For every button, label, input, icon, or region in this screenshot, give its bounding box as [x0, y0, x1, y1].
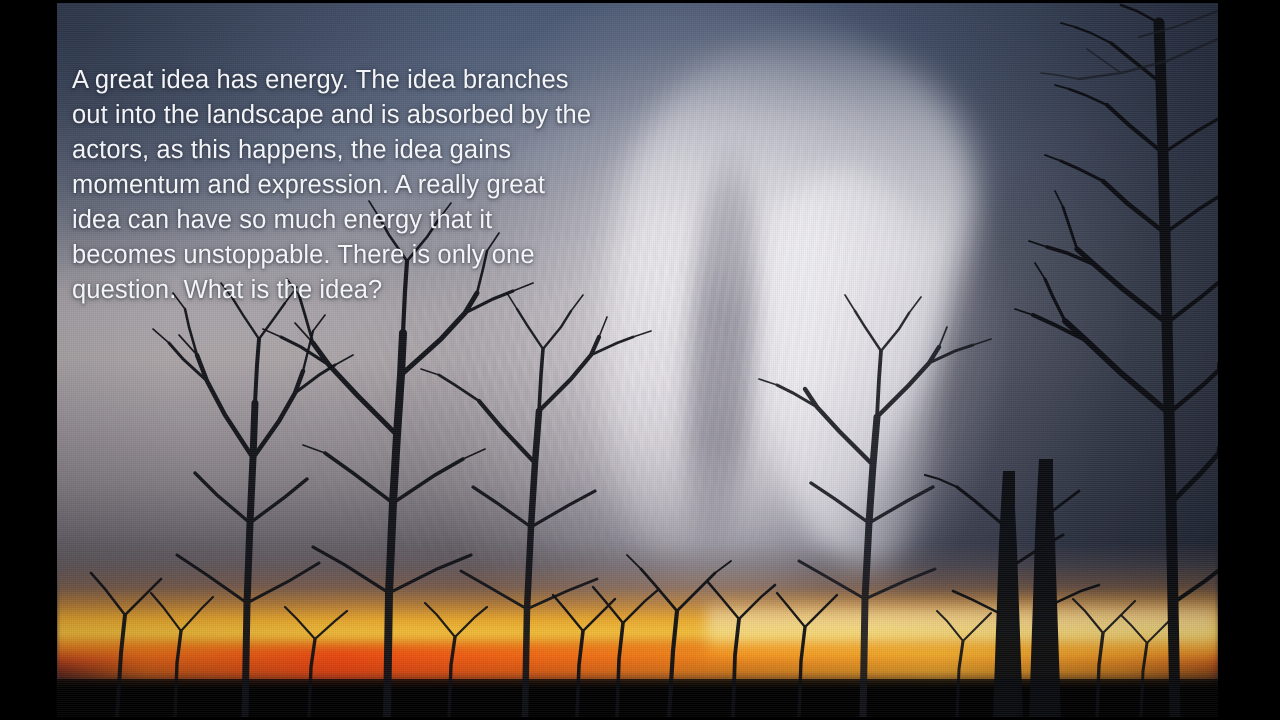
caption-line: becomes unstoppable. There is only one — [72, 238, 632, 273]
scene-photo: A great idea has energy. The idea branch… — [57, 3, 1218, 717]
letterbox-bar-left — [0, 0, 57, 720]
caption-line: actors, as this happens, the idea gains — [72, 133, 632, 168]
caption-line: A great idea has energy. The idea branch… — [72, 63, 632, 98]
letterbox-bar-top — [0, 0, 1280, 3]
video-frame: A great idea has energy. The idea branch… — [0, 0, 1280, 720]
caption-overlay: A great idea has energy. The idea branch… — [72, 63, 632, 308]
caption-line: out into the landscape and is absorbed b… — [72, 98, 632, 133]
caption-line: idea can have so much energy that it — [72, 203, 632, 238]
letterbox-bar-right — [1218, 0, 1280, 720]
caption-line: momentum and expression. A really great — [72, 168, 632, 203]
caption-line: question. What is the idea? — [72, 273, 632, 308]
